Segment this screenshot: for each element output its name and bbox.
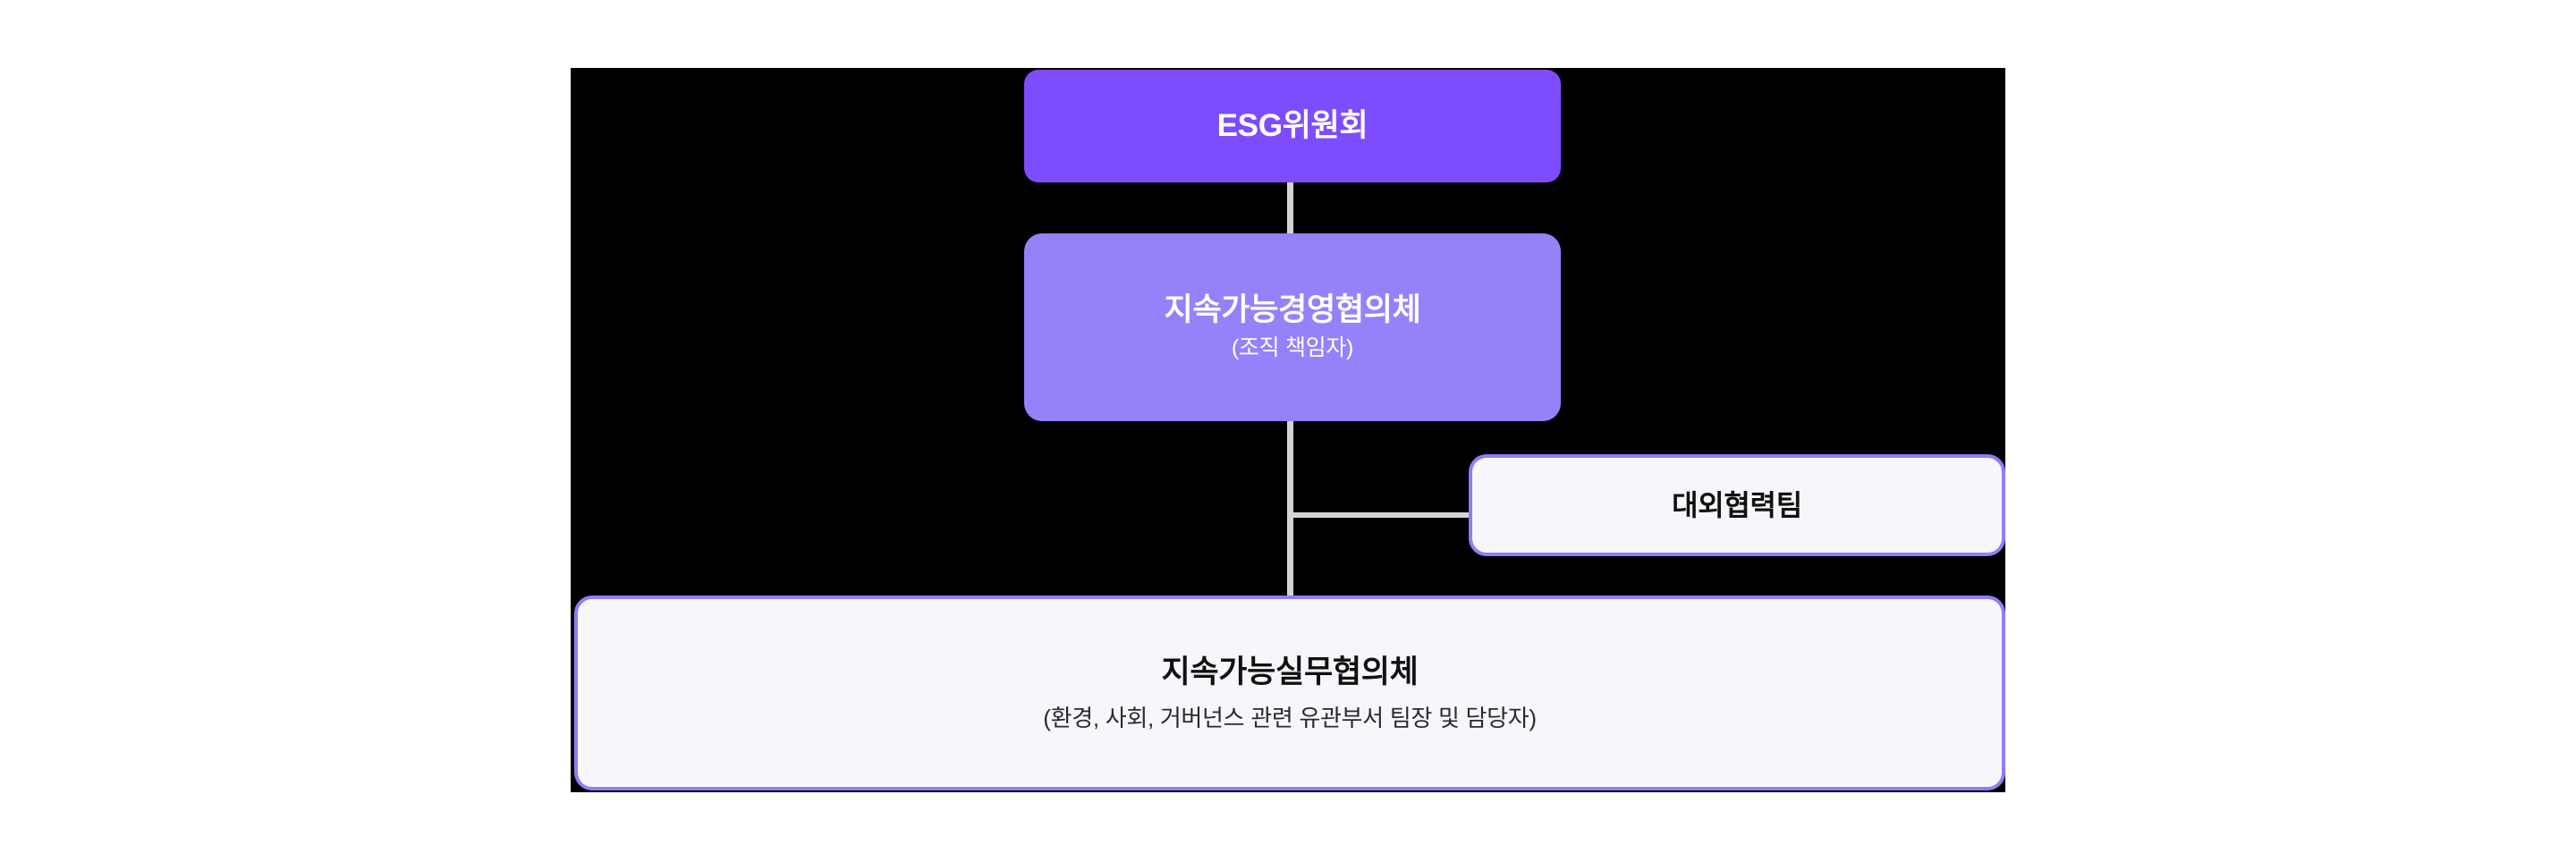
connector-esg-to-council [1287,182,1293,234]
org-chart-canvas: ESG위원회 지속가능경영협의체 (조직 책임자) 대외협력팀 지속가능실무협의… [571,68,2005,792]
node-working-group-title: 지속가능실무협의체 [1161,654,1418,691]
node-esg-committee[interactable]: ESG위원회 [1024,70,1561,182]
node-esg-committee-title: ESG위원회 [1217,107,1368,145]
node-sustainability-council[interactable]: 지속가능경영협의체 (조직 책임자) [1024,233,1561,421]
connector-council-to-external-team [1287,512,1471,518]
node-sustainability-council-title: 지속가능경영협의체 [1164,292,1420,329]
node-external-cooperation-team[interactable]: 대외협력팀 [1469,454,2005,556]
node-working-group[interactable]: 지속가능실무협의체 (환경, 사회, 거버넌스 관련 유관부서 팀장 및 담당자… [574,596,2005,790]
node-external-cooperation-team-title: 대외협력팀 [1672,488,1802,522]
node-sustainability-council-subtitle: (조직 책임자) [1232,334,1353,362]
node-working-group-subtitle: (환경, 사회, 거버넌스 관련 유관부서 팀장 및 담당자) [1043,704,1536,733]
connector-council-to-working-group [1287,420,1293,599]
